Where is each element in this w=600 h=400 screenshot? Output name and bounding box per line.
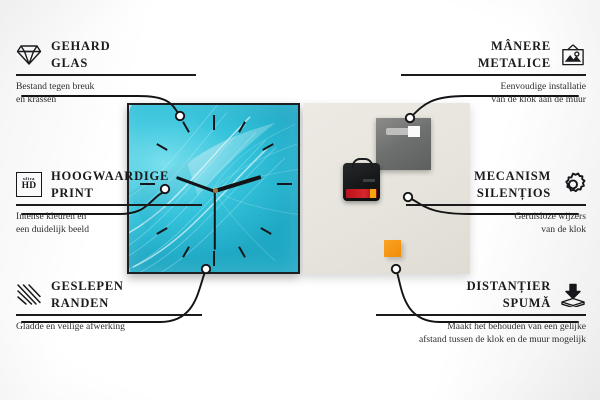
callout-print-head: ultra HD HOOGWAARDIGE PRINT: [16, 168, 202, 201]
ultra-hd-icon: ultra HD: [16, 173, 42, 197]
spacer-arrow-icon: [560, 283, 586, 307]
callout-mechanism-subtitle: Geruisloze wijzers van de klok: [406, 210, 586, 236]
callout-glass: GEHARD GLAS Bestand tegen breuk en krass…: [16, 38, 196, 106]
gear-icon: [560, 173, 586, 197]
callout-glass-title: GEHARD GLAS: [51, 38, 110, 71]
callout-mechanism-title: MECANISM SILENȚIOS: [474, 168, 551, 201]
callout-print-title: HOOGWAARDIGE PRINT: [51, 168, 169, 201]
callout-edges: GESLEPEN RANDEN Gladde en veilige afwerk…: [16, 278, 202, 333]
beveled-edges-icon: [16, 283, 42, 307]
foam-spacer: [384, 240, 401, 257]
ultra-hd-large-text: HD: [22, 182, 37, 192]
callout-mechanism-head: MECANISM SILENȚIOS: [406, 168, 586, 201]
infographic-canvas: GEHARD GLAS Bestand tegen breuk en krass…: [0, 0, 600, 400]
mechanism-hook: [352, 158, 373, 169]
metal-hanger-plate: [376, 118, 431, 170]
callout-mechanism: MECANISM SILENȚIOS Geruisloze wijzers va…: [406, 168, 586, 236]
clock-tick: [213, 251, 215, 266]
callout-spacer: DISTANȚIER SPUMĂ Maakt het behouden van …: [376, 278, 586, 346]
mechanism-label: [363, 179, 375, 182]
callout-glass-head: GEHARD GLAS: [16, 38, 196, 71]
callout-handles: MÂNERE METALICE Eenvoudige installatie v…: [401, 38, 586, 106]
callout-print: ultra HD HOOGWAARDIGE PRINT Intense kleu…: [16, 168, 202, 236]
silent-clock-mechanism: [343, 163, 380, 201]
clock-tick: [277, 183, 292, 185]
callout-handles-rule: [401, 74, 586, 76]
callout-glass-subtitle: Bestand tegen breuk en krassen: [16, 80, 196, 106]
callout-handles-title: MÂNERE METALICE: [478, 38, 551, 71]
callout-mechanism-rule: [406, 204, 586, 206]
callout-spacer-rule: [376, 314, 586, 316]
diamond-icon: [16, 43, 42, 67]
callout-print-subtitle: Intense kleuren en een duidelijk beeld: [16, 210, 202, 236]
clock-center-hub: [213, 188, 218, 193]
callout-edges-rule: [16, 314, 202, 316]
hanger-slot: [386, 128, 420, 135]
callout-edges-head: GESLEPEN RANDEN: [16, 278, 202, 311]
callout-glass-rule: [16, 74, 196, 76]
callout-handles-head: MÂNERE METALICE: [401, 38, 586, 71]
callout-edges-subtitle: Gladde en veilige afwerking: [16, 320, 202, 333]
callout-handles-subtitle: Eenvoudige installatie van de klok aan d…: [401, 80, 586, 106]
battery: [346, 189, 377, 198]
callout-print-rule: [16, 204, 202, 206]
callout-spacer-title: DISTANȚIER SPUMĂ: [467, 278, 551, 311]
clock-second-hand: [214, 191, 216, 249]
callout-spacer-subtitle: Maakt het behouden van een gelijke afsta…: [376, 320, 586, 346]
hanging-picture-icon: [560, 43, 586, 67]
clock-tick: [213, 115, 215, 130]
callout-spacer-head: DISTANȚIER SPUMĂ: [376, 278, 586, 311]
callout-edges-title: GESLEPEN RANDEN: [51, 278, 124, 311]
